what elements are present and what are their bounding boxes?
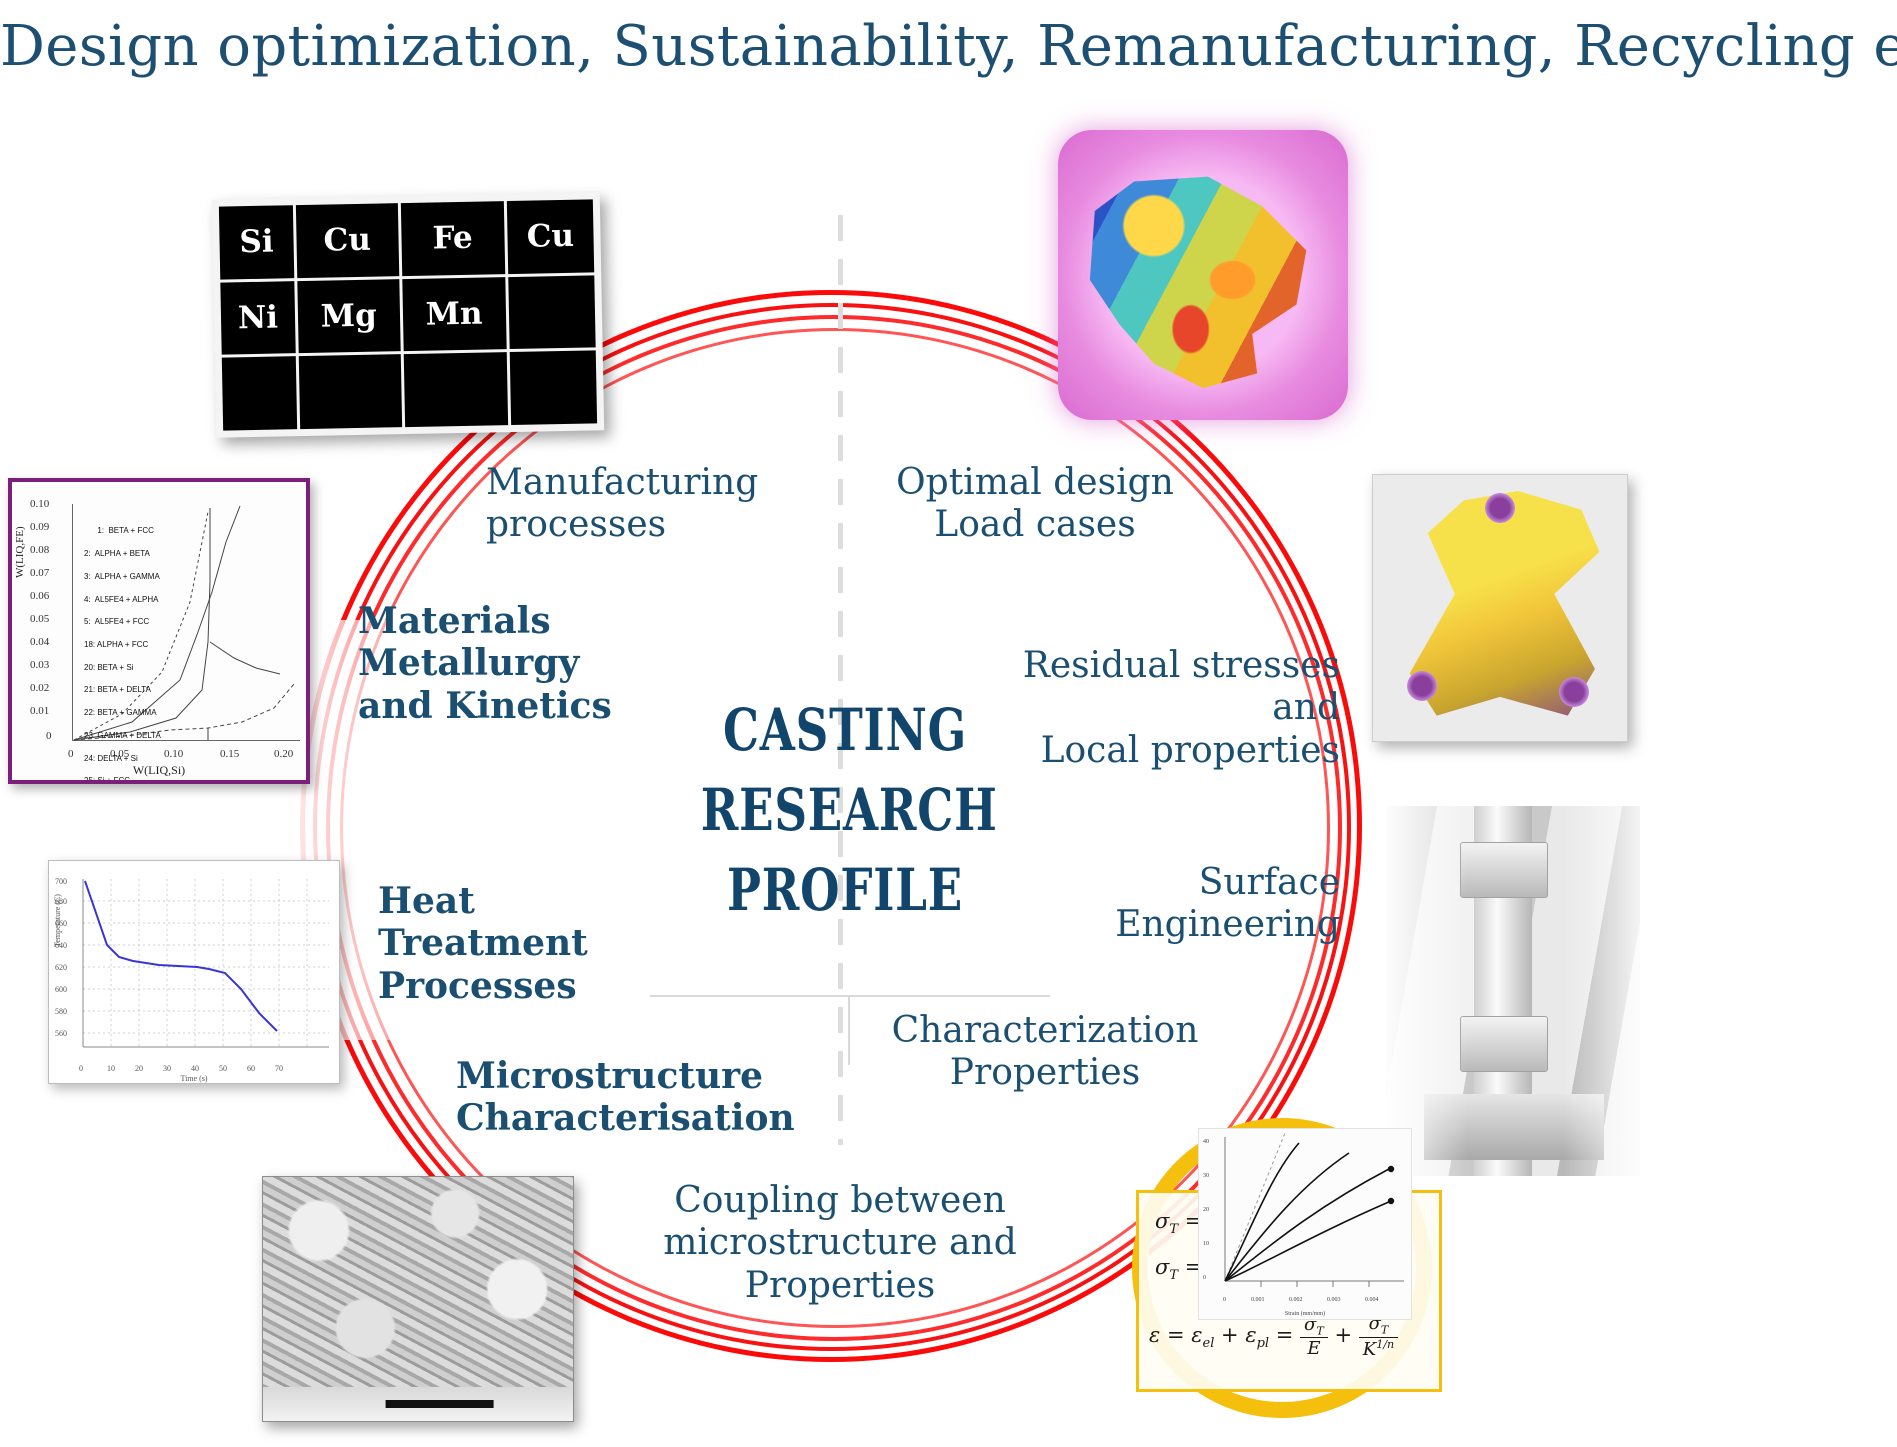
cooling-xtick-5: 50 (219, 1064, 227, 1073)
cell-mg: Mg (297, 279, 400, 354)
phase-diagram-legend: 1: BETA + FCC 2: ALPHA + BETA 3: ALPHA +… (84, 514, 161, 784)
cooling-ytick-5: 600 (55, 985, 67, 994)
epsilon-el-subscript: el (1203, 1336, 1215, 1351)
frac2-sigma-sub: T (1381, 1324, 1388, 1337)
cooling-ytick-3: 640 (55, 941, 67, 950)
legend-1: 1: BETA + FCC (97, 526, 154, 535)
micrograph-scale-bar (386, 1400, 494, 1408)
phase-ytick-4: 0.06 (30, 590, 49, 602)
frac2-exponent: 1/n (1376, 1338, 1394, 1351)
bracket-vertical-line (848, 995, 850, 1065)
fea-bracket-image (1058, 130, 1348, 420)
topic-surface-engineering: Surface Engineering (1080, 862, 1340, 947)
sigma-symbol-1: σ (1155, 1209, 1169, 1233)
cell-si: Si (219, 205, 294, 279)
phase-xtick-2: 0.10 (164, 748, 183, 760)
cooling-xtick-1: 10 (107, 1064, 115, 1073)
stress-strain-curves (1199, 1129, 1411, 1319)
topic-materials-metallurgy: Materials Metallurgy and Kinetics (358, 600, 638, 727)
frac2-denominator: K (1363, 1339, 1376, 1360)
cooling-xtick-0: 0 (79, 1064, 83, 1073)
phase-ytick-10: 0 (46, 730, 52, 742)
ss-ytick-0: 0 (1203, 1275, 1206, 1281)
legend-7: 20: BETA + Si (84, 663, 133, 672)
cell-empty-2 (222, 356, 297, 430)
topic-manufacturing-processes: Manufacturing processes (486, 462, 786, 547)
sigma-symbol-2: σ (1155, 1255, 1169, 1279)
topic-coupling-microstructure-properties: Coupling between microstructure and Prop… (650, 1180, 1030, 1307)
fea-bracket-body (1080, 152, 1326, 398)
cooling-curve-figure: Temperature (C) 700 680 660 640 620 600 … (48, 860, 340, 1084)
cooling-xtick-2: 20 (135, 1064, 143, 1073)
phase-ytick-9: 0.01 (30, 705, 49, 717)
ss-ytick-3: 30 (1203, 1173, 1209, 1179)
epsilon-eq: = ε (1160, 1323, 1202, 1347)
frac1-sigma-sub: T (1316, 1324, 1323, 1337)
cell-empty-4 (403, 352, 508, 427)
cell-empty-3 (299, 354, 402, 429)
testing-machine-photo (1386, 806, 1640, 1176)
ss-ytick-4: 40 (1203, 1139, 1209, 1145)
stress-strain-chart: 40 30 20 10 0 0 0.001 0.002 0.003 0.004 … (1198, 1128, 1412, 1320)
legend-8: 21: BETA + DELTA (84, 685, 151, 694)
fea-beam-node-3 (1485, 493, 1515, 523)
ss-xtick-3: 0.003 (1327, 1297, 1341, 1303)
center-title: CASTING RESEARCH PROFILE (701, 690, 990, 930)
cooling-ytick-6: 580 (55, 1007, 67, 1016)
phase-y-axis-label: W(LIQ,FE) (14, 526, 26, 578)
cooling-ytick-2: 660 (55, 919, 67, 928)
topic-heat-treatment-processes: Heat Treatment Processes (378, 880, 608, 1007)
ss-x-axis-label: Strain (mm/mm) (1199, 1311, 1411, 1317)
testing-machine-fade-overlay (1386, 806, 1640, 1176)
formula-3-equals: = (1269, 1323, 1300, 1347)
cell-cu2: Cu (507, 199, 595, 273)
cooling-xtick-3: 30 (163, 1064, 171, 1073)
legend-4: 4: AL5FE4 + ALPHA (84, 595, 159, 604)
microstructure-micrograph (262, 1176, 574, 1422)
page-title: Design optimization, Sustainability, Rem… (0, 14, 1897, 79)
phase-ytick-7: 0.03 (30, 659, 49, 671)
cell-fe: Fe (400, 201, 505, 276)
sigma-subscript-2: T (1169, 1268, 1178, 1283)
cell-empty-1 (508, 275, 596, 349)
fea-beam-node-2 (1559, 677, 1589, 707)
phase-diagram-figure: W(LIQ,FE) 0.10 0.09 0.08 0.07 0.06 0.05 … (8, 478, 310, 784)
epsilon-plus: + ε (1214, 1323, 1256, 1347)
epsilon-pl-subscript: pl (1257, 1336, 1270, 1351)
frac1-denominator: E (1300, 1338, 1328, 1359)
cooling-ytick-4: 620 (55, 963, 67, 972)
topic-characterization-properties: Characterization Properties (880, 1010, 1210, 1095)
fea-beam-image (1372, 474, 1628, 742)
phase-ytick-1: 0.09 (30, 521, 49, 533)
cooling-xtick-7: 70 (275, 1064, 283, 1073)
phase-ytick-6: 0.04 (30, 636, 49, 648)
topic-residual-stresses: Residual stresses and Local properties (1000, 645, 1340, 772)
legend-6: 18: ALPHA + FCC (84, 640, 148, 649)
fraction-plus: + (1328, 1323, 1359, 1347)
cooling-curve-plot (49, 861, 337, 1081)
phase-ytick-2: 0.08 (30, 544, 49, 556)
phase-ytick-8: 0.02 (30, 682, 49, 694)
phase-xtick-4: 0.20 (274, 748, 293, 760)
cooling-ytick-1: 680 (55, 897, 67, 906)
topic-microstructure-characterisation: Microstructure Characterisation (456, 1055, 786, 1140)
composition-table: Si Cu Fe Cu Ni Mg Mn (212, 192, 604, 437)
cooling-ytick-0: 700 (55, 877, 67, 886)
ss-xtick-2: 0.002 (1289, 1297, 1303, 1303)
fea-beam-node-1 (1407, 671, 1437, 701)
phase-x-axis-label: W(LIQ,Si) (12, 763, 306, 778)
phase-xtick-0: 0 (68, 748, 74, 760)
ss-xtick-4: 0.004 (1365, 1297, 1379, 1303)
legend-10: 23: GAMMA + DELTA (84, 731, 161, 740)
fraction-sigma-over-e: σTE (1300, 1314, 1328, 1360)
cooling-x-axis-label: Time (s) (49, 1074, 339, 1083)
ss-ytick-2: 20 (1203, 1207, 1209, 1213)
cell-empty-5 (509, 351, 597, 425)
legend-9: 22: BETA + GAMMA (84, 708, 157, 717)
ss-ytick-1: 10 (1203, 1241, 1209, 1247)
legend-3: 3: ALPHA + GAMMA (84, 572, 160, 581)
epsilon-symbol: ε (1149, 1323, 1160, 1347)
cell-ni: Ni (220, 281, 295, 355)
bracket-horizontal-line (650, 995, 1050, 997)
sigma-subscript-1: T (1169, 1222, 1178, 1237)
table-row (222, 351, 597, 431)
ss-xtick-1: 0.001 (1251, 1297, 1265, 1303)
table-row: Ni Mg Mn (220, 275, 595, 355)
phase-ytick-0: 0.10 (30, 498, 49, 510)
cooling-xtick-4: 40 (191, 1064, 199, 1073)
legend-11: 24: DELTA + Si (84, 754, 138, 763)
legend-2: 2: ALPHA + BETA (84, 549, 150, 558)
phase-ytick-5: 0.05 (30, 613, 49, 625)
legend-5: 5: AL5FE4 + FCC (84, 617, 149, 626)
cooling-xtick-6: 60 (247, 1064, 255, 1073)
phase-xtick-3: 0.15 (220, 748, 239, 760)
cell-cu: Cu (296, 203, 399, 278)
cell-mn: Mn (402, 277, 507, 352)
ss-xtick-0: 0 (1223, 1297, 1226, 1303)
table-row: Si Cu Fe Cu (219, 199, 594, 279)
cooling-ytick-7: 560 (55, 1029, 67, 1038)
phase-ytick-3: 0.07 (30, 567, 49, 579)
topic-optimal-design-load-cases: Optimal design Load cases (880, 462, 1190, 547)
